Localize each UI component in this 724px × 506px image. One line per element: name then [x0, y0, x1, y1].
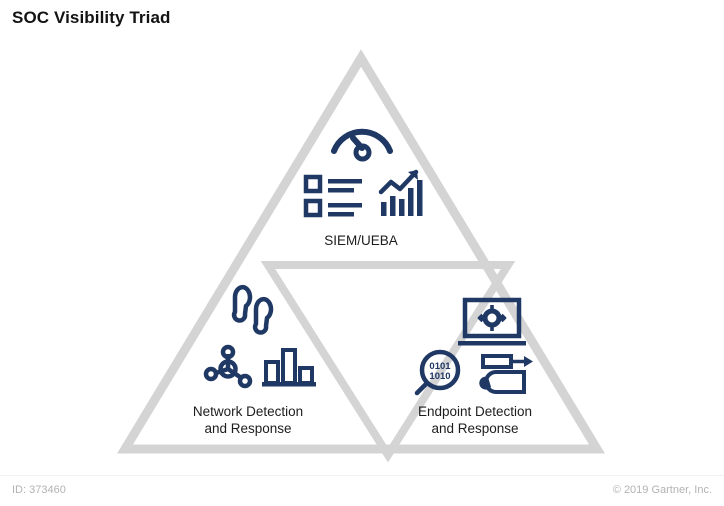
- triad-diagram-svg: 0101 1010: [0, 0, 724, 506]
- siem-icon-group: [306, 132, 423, 217]
- bar-chart-icon: [262, 350, 316, 387]
- footprints-icon: [234, 287, 271, 332]
- footer-copyright: © 2019 Gartner, Inc.: [613, 484, 712, 496]
- outer-triangle-outline: [125, 58, 597, 449]
- tools-icon: [479, 356, 533, 392]
- soc-visibility-triad-diagram: 0101 1010 SIEM/UEBA Network Detection an…: [0, 0, 724, 506]
- magnifier-binary-icon: 0101 1010: [417, 352, 458, 393]
- network-icon-group: [206, 287, 316, 386]
- footer-divider: [0, 475, 724, 476]
- network-nodes-icon: [206, 347, 250, 386]
- node-label-siem: SIEM/UEBA: [261, 232, 461, 249]
- checklist-icon: [306, 177, 362, 217]
- node-label-network: Network Detection and Response: [148, 403, 348, 437]
- binary-line-2: 1010: [429, 371, 450, 382]
- footer-id: ID: 373460: [12, 484, 66, 496]
- bar-chart-trend-icon: [381, 170, 423, 216]
- node-label-endpoint: Endpoint Detection and Response: [375, 403, 575, 437]
- gauge-icon: [334, 132, 390, 159]
